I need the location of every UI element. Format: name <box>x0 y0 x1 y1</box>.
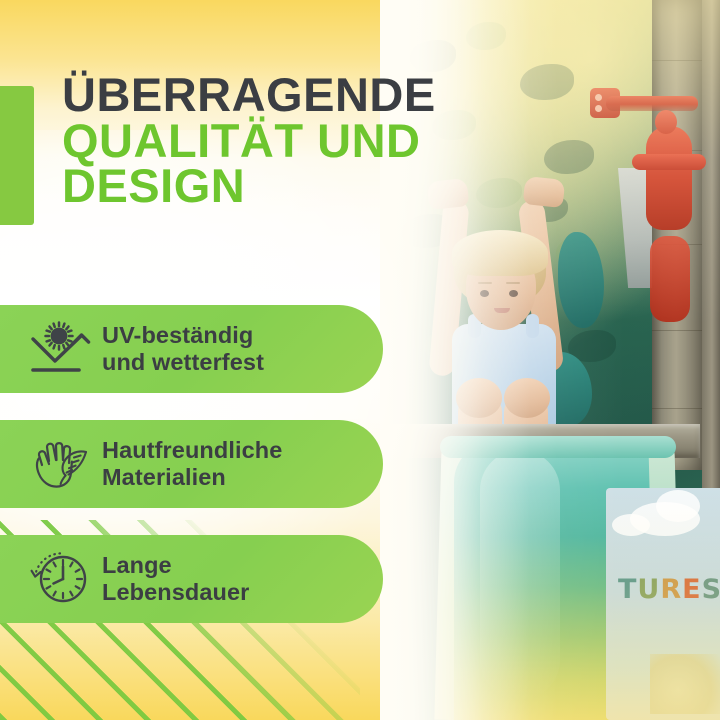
headline-accent-bar <box>0 86 34 225</box>
uv-sun-reflect-icon <box>22 318 98 380</box>
headline-line-3: DESIGN <box>62 163 532 209</box>
feature-pill-durability: Lange Lebensdauer <box>0 535 383 623</box>
feature-pill-durability-text: Lange Lebensdauer <box>102 552 249 607</box>
feature-durability-line-1: Lange <box>102 552 172 578</box>
feature-skin-line-2: Materialien <box>102 464 226 490</box>
promo-poster: TURES ÜBERRAGENDE QUALITÄT UND DESIGN <box>0 0 720 720</box>
feature-pill-skinfriendly: Hautfreundliche Materialien <box>0 420 383 508</box>
feature-uv-line-2: und wetterfest <box>102 349 264 375</box>
feature-durability-line-2: Lebensdauer <box>102 579 249 605</box>
headline-line-2: QUALITÄT UND <box>62 118 532 164</box>
feature-uv-line-1: UV-beständig <box>102 322 253 348</box>
clock-rotate-icon <box>22 548 98 610</box>
headline-line-1: ÜBERRAGENDE <box>62 72 532 118</box>
feature-pill-uv-text: UV-beständig und wetterfest <box>102 322 264 377</box>
hand-feather-icon <box>22 433 98 495</box>
feature-pill-uv: UV-beständig und wetterfest <box>0 305 383 393</box>
feature-skin-line-1: Hautfreundliche <box>102 437 282 463</box>
page-title: ÜBERRAGENDE QUALITÄT UND DESIGN <box>62 72 532 209</box>
feature-pill-skinfriendly-text: Hautfreundliche Materialien <box>102 437 282 492</box>
